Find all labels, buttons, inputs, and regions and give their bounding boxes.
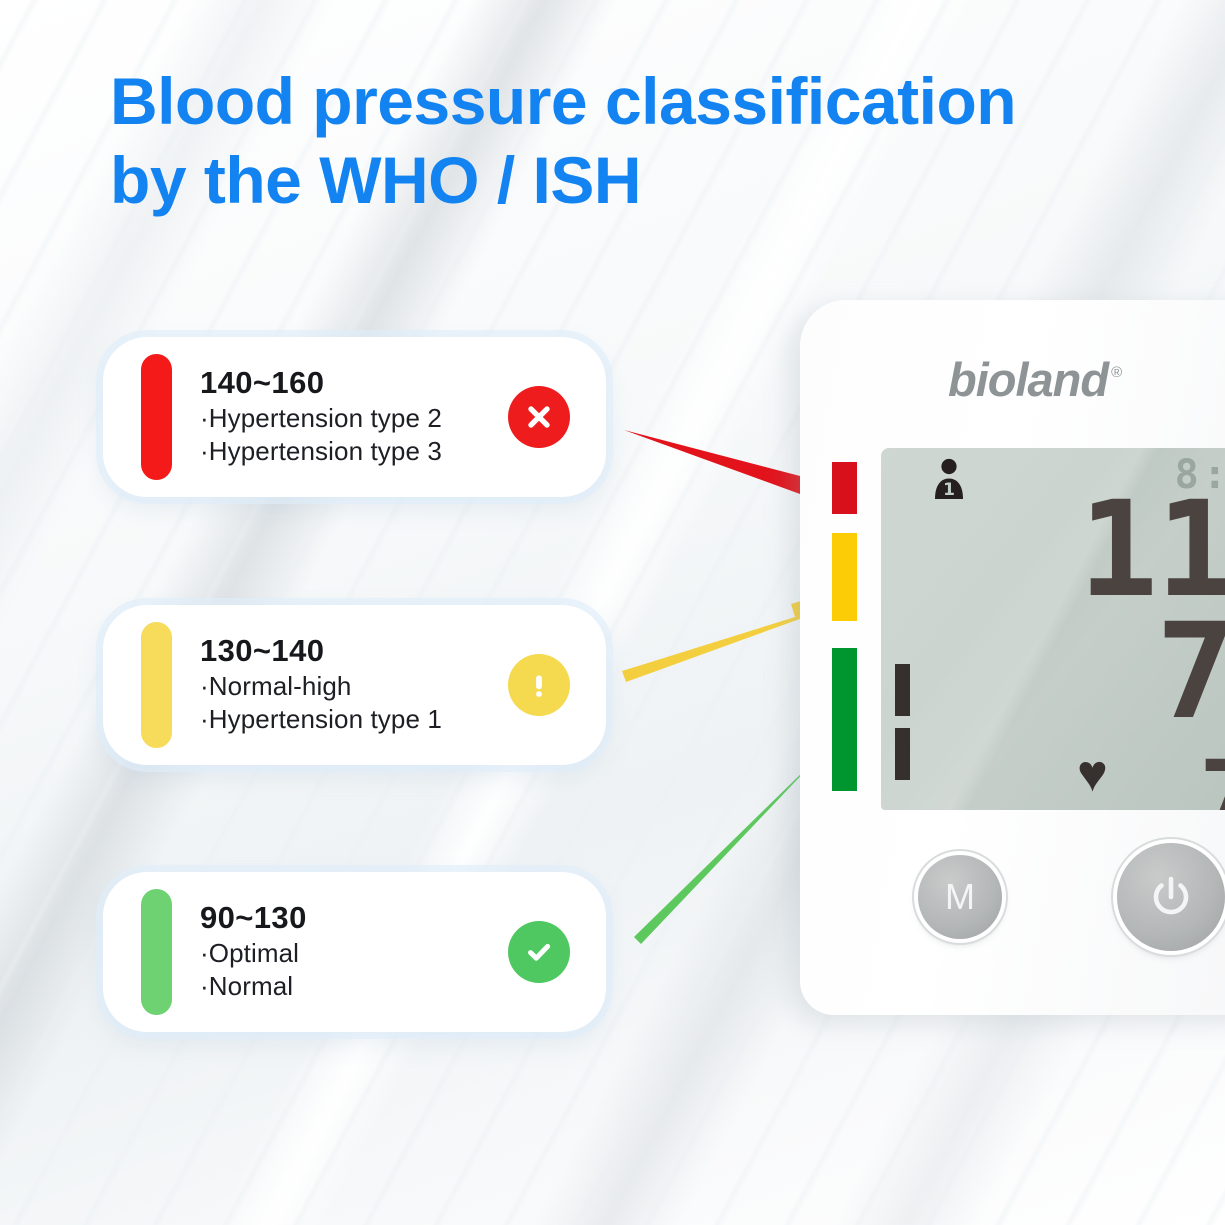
user-profile-icon: 1 xyxy=(929,458,969,500)
svg-text:1: 1 xyxy=(943,480,955,500)
power-icon xyxy=(1144,870,1198,924)
lcd-classification-segment-1 xyxy=(895,664,910,716)
green-arrow xyxy=(634,746,828,944)
lcd-display: 1 8:30 115 78 mmHg 78 ♥ xyxy=(881,448,1225,810)
device-indicator-bar-green xyxy=(832,648,857,791)
registered-trademark-icon: ® xyxy=(1111,364,1121,381)
power-button[interactable] xyxy=(1117,843,1225,951)
device-indicator-bar-yellow xyxy=(832,533,857,621)
device-indicator-bar-red xyxy=(832,462,857,514)
brand-name: bioland xyxy=(948,353,1108,406)
memory-button-label: M xyxy=(945,876,975,918)
lcd-diastolic: 78 xyxy=(1156,606,1225,738)
yellow-arrow xyxy=(622,592,830,682)
heart-icon: ♥ xyxy=(1077,748,1108,800)
lcd-pulse-value: 78 xyxy=(1199,748,1225,810)
blood-pressure-monitor: bioland® 1 8:30 115 78 mmHg 78 ♥ M xyxy=(800,300,1225,1015)
brand-logo: bioland® xyxy=(948,352,1121,407)
lcd-classification-segment-2 xyxy=(895,728,910,780)
memory-button[interactable]: M xyxy=(918,855,1002,939)
